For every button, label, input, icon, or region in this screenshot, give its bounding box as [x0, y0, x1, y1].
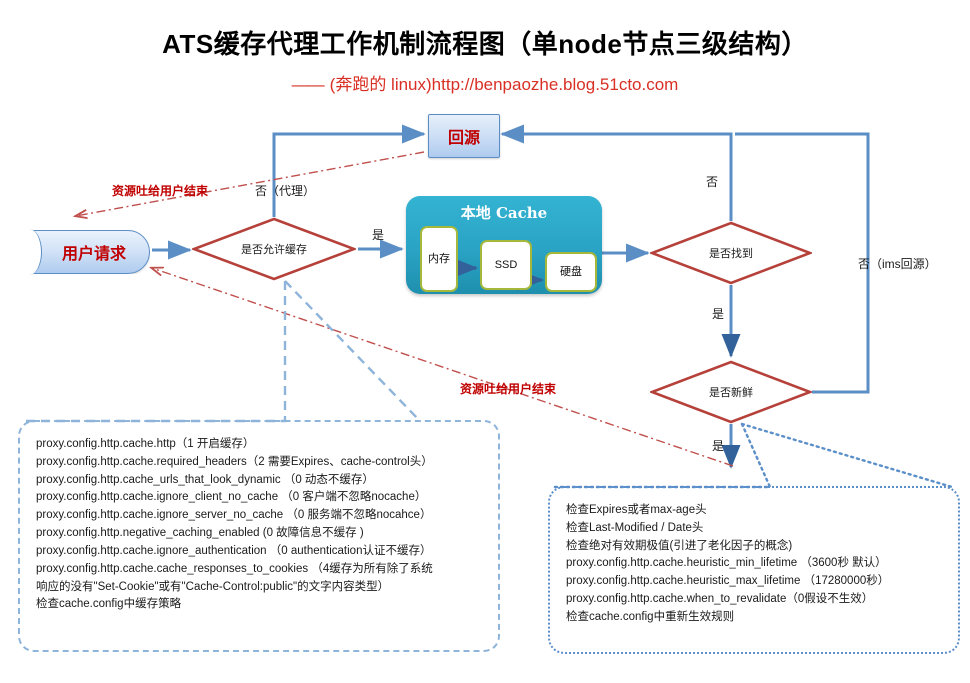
callout-leader-left-a: [20, 281, 285, 421]
note-line: proxy.config.http.cache_urls_that_look_d…: [36, 472, 482, 490]
cache-tier-disk-label: 硬盘: [560, 266, 582, 279]
note-line: proxy.config.http.cache.heuristic_max_li…: [566, 573, 942, 591]
note-line: proxy.config.http.cache.ignore_client_no…: [36, 489, 482, 507]
edge-label-deliver-bottom: 资源吐给用户结束: [460, 380, 556, 397]
note-line: proxy.config.http.cache.when_to_revalida…: [566, 591, 942, 609]
decision-cache-found[interactable]: 是否找到: [650, 221, 812, 285]
note-line: proxy.config.http.cache.required_headers…: [36, 454, 482, 472]
page-subtitle: ——(奔跑的 linux)http://benpaozhe.blog.51cto…: [0, 70, 970, 95]
decision-cache-found-label: 是否找到: [709, 245, 753, 261]
cache-tier-memory[interactable]: 内存: [420, 226, 458, 292]
note-line: 检查Last-Modified / Date头: [566, 520, 942, 538]
note-line: proxy.config.http.cache.http（1 开启缓存）: [36, 436, 482, 454]
node-user-request[interactable]: 用户请求: [18, 230, 150, 274]
local-cache-group: 本地 Cache 内存 SSD 硬盘: [406, 196, 602, 294]
note-line: proxy.config.http.cache.cache_responses_…: [36, 561, 482, 579]
edge-label-yes-found: 是: [712, 305, 724, 322]
edge-label-no-ims: 否（ims回源）: [858, 255, 937, 272]
page-title: ATS缓存代理工作机制流程图（单node节点三级结构）: [0, 24, 970, 61]
cache-tier-ssd-label: SSD: [495, 259, 518, 272]
note-line: 检查cache.config中重新生效规则: [566, 609, 942, 627]
note-line: proxy.config.http.cache.ignore_authentic…: [36, 543, 482, 561]
edge-label-no-proxy: 否（代理）: [255, 182, 315, 199]
edge-label-yes-fresh: 是: [712, 437, 724, 454]
node-origin-label: 回源: [448, 124, 480, 148]
note-freshness-policy: 检查Expires或者max-age头 检查Last-Modified / Da…: [548, 486, 960, 654]
decision-allow-cache-label: 是否允许缓存: [241, 241, 307, 257]
node-user-request-label: 用户请求: [44, 230, 144, 274]
subtitle-dash: ——: [292, 75, 324, 94]
edge-allow-no-to-origin: [274, 134, 424, 217]
note-line: 检查cache.config中缓存策略: [36, 596, 482, 614]
decision-allow-cache[interactable]: 是否允许缓存: [192, 217, 356, 281]
edge-label-yes-allow: 是: [372, 226, 384, 243]
subtitle-url: (奔跑的 linux)http://benpaozhe.blog.51cto.c…: [330, 75, 679, 94]
edge-label-deliver-top: 资源吐给用户结束: [112, 182, 208, 199]
note-line: proxy.config.http.cache.heuristic_min_li…: [566, 555, 942, 573]
note-line: proxy.config.http.negative_caching_enabl…: [36, 525, 482, 543]
note-line: 检查Expires或者max-age头: [566, 502, 942, 520]
node-origin-fetch[interactable]: 回源: [428, 114, 500, 158]
edge-label-no-found: 否: [706, 173, 718, 190]
note-line: 检查绝对有效期极值(引进了老化因子的概念): [566, 538, 942, 556]
user-request-notch: [17, 229, 42, 275]
flowchart-canvas: ATS缓存代理工作机制流程图（单node节点三级结构） ——(奔跑的 linux…: [0, 0, 970, 683]
note-line: proxy.config.http.cache.ignore_server_no…: [36, 507, 482, 525]
callout-leader-left-b: [285, 281, 420, 421]
cache-tier-memory-label: 内存: [428, 253, 450, 266]
callout-leader-right-a: [552, 424, 770, 487]
cache-tier-ssd[interactable]: SSD: [480, 240, 532, 290]
callout-leader-right-b: [742, 424, 952, 487]
decision-cache-fresh-label: 是否新鲜: [709, 384, 753, 400]
decision-cache-fresh[interactable]: 是否新鲜: [650, 360, 812, 424]
note-line: 响应的没有"Set-Cookie"或有"Cache-Control:public…: [36, 579, 482, 597]
cache-tier-disk[interactable]: 硬盘: [545, 252, 597, 292]
note-cache-policy: proxy.config.http.cache.http（1 开启缓存） pro…: [18, 420, 500, 652]
